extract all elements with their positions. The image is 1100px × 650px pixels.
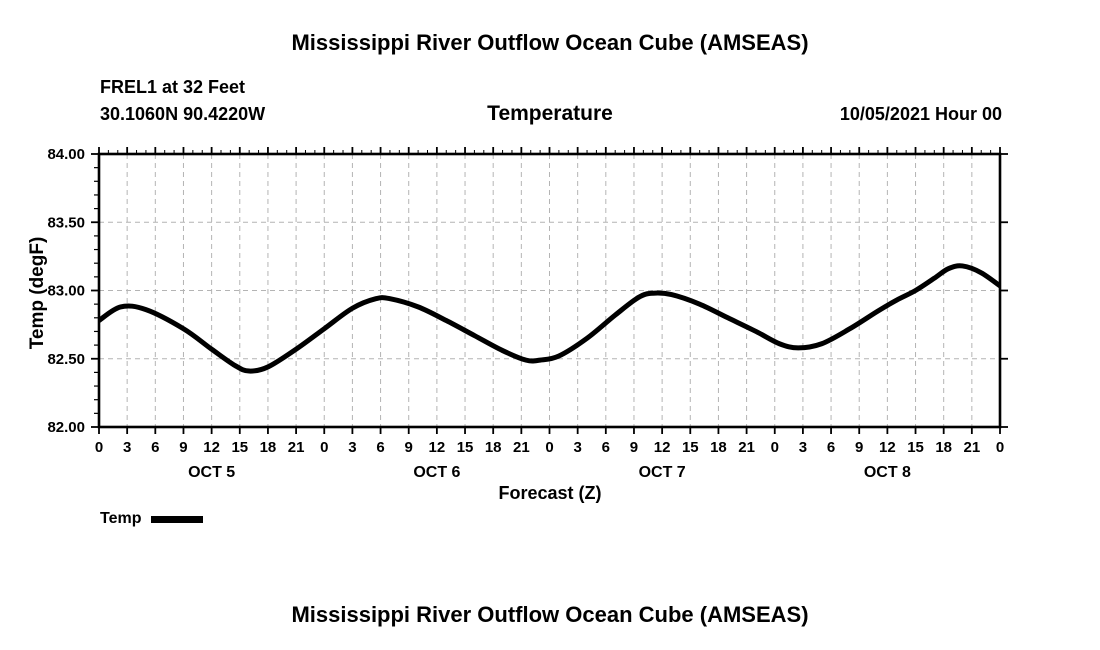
x-tick-label: 0	[996, 439, 1004, 456]
day-label: OCT 5	[188, 464, 235, 481]
y-tick-label: 82.00	[47, 419, 85, 436]
x-tick-label: 12	[203, 439, 220, 456]
x-tick-label: 3	[573, 439, 581, 456]
x-tick-label: 3	[799, 439, 807, 456]
series-line-temp	[99, 241, 1100, 371]
x-tick-label: 15	[907, 439, 924, 456]
axes	[99, 154, 1000, 427]
x-tick-label: 15	[682, 439, 699, 456]
x-tick-label: 21	[738, 439, 755, 456]
legend-item-temp: Temp	[100, 510, 203, 528]
page-title: Mississippi River Outflow Ocean Cube (AM…	[0, 30, 1100, 56]
x-tick-label: 6	[827, 439, 835, 456]
x-tick-label: 9	[405, 439, 413, 456]
plot-frame	[99, 154, 1000, 427]
x-tick-label: 21	[964, 439, 981, 456]
x-axis-title-wrap: Forecast (Z)	[0, 483, 1100, 504]
x-tick-label: 18	[260, 439, 277, 456]
x-tick-label: 9	[179, 439, 187, 456]
model-run-time: 10/05/2021 Hour 00	[840, 104, 1002, 125]
data-series	[99, 241, 1100, 371]
y-tick-labels: 82.0082.5083.0083.5084.00	[47, 146, 85, 436]
y-tick-label: 83.00	[47, 283, 85, 300]
y-tick-label: 83.50	[47, 214, 85, 231]
x-tick-label: 3	[123, 439, 131, 456]
x-tick-label: 18	[485, 439, 502, 456]
x-tick-label: 12	[654, 439, 671, 456]
x-tick-label: 0	[95, 439, 103, 456]
x-axis-title: Forecast (Z)	[498, 483, 601, 503]
x-tick-label: 21	[288, 439, 305, 456]
x-tick-label: 6	[602, 439, 610, 456]
x-tick-label: 6	[376, 439, 384, 456]
x-tick-label: 15	[457, 439, 474, 456]
x-tick-label: 9	[855, 439, 863, 456]
x-tick-label: 12	[879, 439, 896, 456]
x-tick-labels: 0369121518210369121518210369121518210369…	[95, 439, 1004, 456]
chart-page: Mississippi River Outflow Ocean Cube (AM…	[0, 0, 1100, 650]
x-tick-label: 0	[771, 439, 779, 456]
x-tick-label: 6	[151, 439, 159, 456]
day-label: OCT 7	[639, 464, 686, 481]
footer-title: Mississippi River Outflow Ocean Cube (AM…	[0, 602, 1100, 628]
y-tick-label: 84.00	[47, 146, 85, 163]
station-label: FREL1 at 32 Feet	[100, 77, 245, 98]
x-tick-label: 0	[320, 439, 328, 456]
y-tick-label: 82.50	[47, 351, 85, 368]
day-label: OCT 8	[864, 464, 911, 481]
tick-marks	[91, 147, 1008, 434]
day-label: OCT 6	[413, 464, 460, 481]
x-tick-label: 15	[231, 439, 248, 456]
x-tick-label: 9	[630, 439, 638, 456]
x-tick-label: 18	[710, 439, 727, 456]
legend: Temp	[100, 510, 203, 528]
day-labels: OCT 5OCT 6OCT 7OCT 8	[188, 464, 911, 481]
grid-lines	[99, 154, 1000, 427]
x-tick-label: 21	[513, 439, 530, 456]
y-axis-title: Temp (degF)	[27, 237, 48, 350]
x-tick-label: 18	[935, 439, 952, 456]
x-tick-label: 0	[545, 439, 553, 456]
x-tick-label: 3	[348, 439, 356, 456]
legend-label-temp: Temp	[100, 510, 141, 528]
x-tick-label: 12	[429, 439, 446, 456]
y-axis-title-wrap: Temp (degF)	[27, 193, 49, 393]
legend-color-swatch	[151, 516, 203, 523]
